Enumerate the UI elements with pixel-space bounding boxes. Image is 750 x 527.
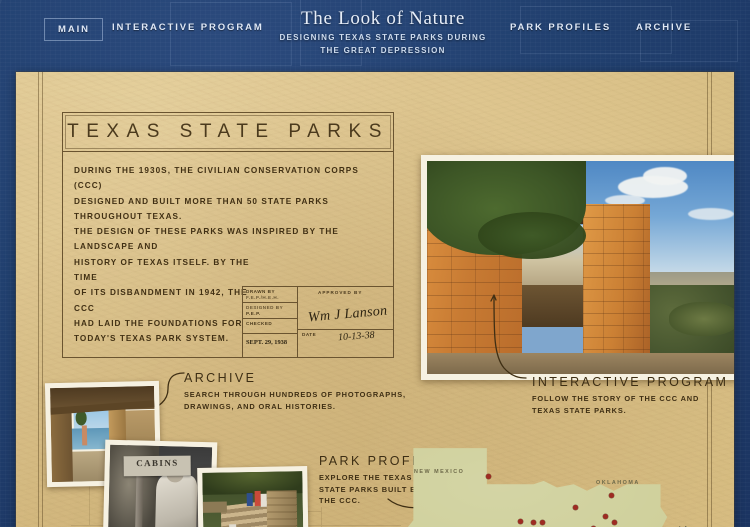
cloud: [688, 208, 734, 220]
sheet-border-rule: [42, 72, 43, 527]
panel-paragraph-line: TODAY'S TEXAS PARK SYSTEM.: [74, 331, 270, 346]
visitor-figure: [261, 494, 267, 507]
nav-item-archive[interactable]: ARCHIVE: [636, 22, 692, 33]
hero-photo-image: [427, 161, 734, 374]
panel-paragraph-line: DURING THE 1930S, THE CIVILIAN CONSERVAT…: [74, 163, 382, 194]
panel-paragraph-line: THE DESIGN OF THESE PARKS WAS INSPIRED B…: [74, 224, 382, 255]
approved-by-label: APPROVED BY: [318, 290, 362, 295]
callout-interactive-program[interactable]: INTERACTIVE PROGRAM FOLLOW THE STORY OF …: [532, 375, 734, 416]
site-brand: The Look of Nature DESIGNING TEXAS STATE…: [258, 8, 508, 56]
thumb-stairs-image: [202, 471, 303, 527]
approver-signature: Wm J Lanson: [307, 303, 388, 326]
nav-item-interactive-program[interactable]: INTERACTIVE PROGRAM: [112, 22, 264, 33]
hero-photo[interactable]: [421, 155, 734, 380]
cabins-sign-text: CABINS: [126, 457, 189, 468]
park-marker[interactable]: [609, 493, 614, 498]
oak-tree: [478, 212, 586, 259]
park-marker[interactable]: [573, 505, 578, 510]
map-label-oklahoma: OKLAHOMA: [596, 480, 640, 486]
callout-archive-title: ARCHIVE: [184, 371, 424, 385]
stone-wall-right: [583, 204, 650, 374]
panel-header: TEXAS STATE PARKS: [62, 112, 394, 152]
park-marker[interactable]: [612, 520, 617, 525]
thumb-stairs[interactable]: [197, 466, 309, 527]
park-marker[interactable]: [540, 520, 545, 525]
drawn-by-label: DRAWN BY: [246, 289, 275, 294]
nav-item-park-profiles[interactable]: PARK PROFILES: [510, 22, 611, 33]
texas-state-shape: [400, 435, 734, 527]
designed-by-value: P.E.P.: [246, 311, 261, 316]
drawn-by-value: F.E.P./H.E.H.: [246, 295, 279, 300]
ground-region: [427, 353, 734, 374]
panel-paragraph-line: DESIGNED AND BUILT MORE THAN 50 STATE PA…: [74, 194, 382, 225]
callout-interactive-program-desc-line-1: FOLLOW THE STORY OF THE CCC AND: [532, 393, 734, 405]
callout-interactive-program-desc-line-2: TEXAS STATE PARKS.: [532, 405, 734, 417]
date-label: DATE: [302, 332, 316, 337]
stone-wall: [267, 490, 298, 527]
top-navigation: MAIN INTERACTIVE PROGRAM PARK PROFILES A…: [0, 0, 750, 70]
map-label-new-mexico: NEW MEXICO: [414, 469, 464, 475]
blueprint-title-block: DRAWN BY F.E.P./H.E.H. DESIGNED BY P.E.P…: [242, 286, 394, 358]
callout-archive[interactable]: ARCHIVE SEARCH THROUGH HUNDREDS OF PHOTO…: [184, 371, 424, 412]
foreground-brush: [669, 302, 734, 336]
title-block-left-column: DRAWN BY F.E.P./H.E.H. DESIGNED BY P.E.P…: [243, 287, 298, 357]
page-root: MAIN INTERACTIVE PROGRAM PARK PROFILES A…: [0, 0, 750, 527]
site-title: The Look of Nature: [258, 8, 508, 30]
stone-ledge: [203, 502, 227, 513]
site-subtitle-line-2: THE GREAT DEPRESSION: [258, 45, 508, 56]
site-subtitle-line-1: DESIGNING TEXAS STATE PARKS DURING: [258, 32, 508, 43]
panel-paragraph-line: OF ITS DISBANDMENT IN 1942, THE CCC: [74, 285, 270, 316]
page-title: TEXAS STATE PARKS: [63, 121, 393, 143]
designed-by-label: DESIGNED BY: [246, 305, 283, 310]
callout-archive-desc-line-1: SEARCH THROUGH HUNDREDS OF PHOTOGRAPHS,: [184, 389, 424, 401]
visitor-figure: [247, 493, 253, 507]
park-marker[interactable]: [531, 520, 536, 525]
visitor-figure: [82, 425, 88, 446]
paper-sheet: ELEVATION - DINING ROOM TEXAS STATE PARK…: [16, 72, 734, 527]
callout-archive-desc-line-2: DRAWINGS, AND ORAL HISTORIES.: [184, 401, 424, 413]
panel-paragraph-line: HISTORY OF TEXAS ITSELF. BY THE TIME: [74, 255, 270, 286]
checked-label: CHECKED: [246, 321, 272, 326]
ccc-worker-figure: [155, 475, 197, 527]
callout-interactive-program-title: INTERACTIVE PROGRAM: [532, 375, 734, 389]
approval-date-value: 10-13-38: [338, 329, 375, 343]
nav-item-main[interactable]: MAIN: [44, 18, 103, 41]
park-marker[interactable]: [603, 514, 608, 519]
low-wall: [522, 285, 586, 328]
texas-state-parks-panel: TEXAS STATE PARKS DURING THE 1930S, THE …: [62, 112, 394, 358]
title-block-right-column: APPROVED BY Wm J Lanson DATE 10-13-38: [298, 287, 393, 357]
texas-parks-map[interactable]: OKLAHOMA NEW MEXICO LA TEXAS: [400, 435, 734, 527]
park-marker[interactable]: [518, 519, 523, 524]
sheet-border-rule: [38, 72, 39, 527]
panel-paragraph-line: HAD LAID THE FOUNDATIONS FOR: [74, 316, 270, 331]
sign-post: [134, 473, 143, 527]
park-marker[interactable]: [486, 474, 491, 479]
drawn-date-value: SEPT. 29, 1938: [246, 339, 287, 346]
panel-body: DURING THE 1930S, THE CIVILIAN CONSERVAT…: [62, 152, 394, 358]
